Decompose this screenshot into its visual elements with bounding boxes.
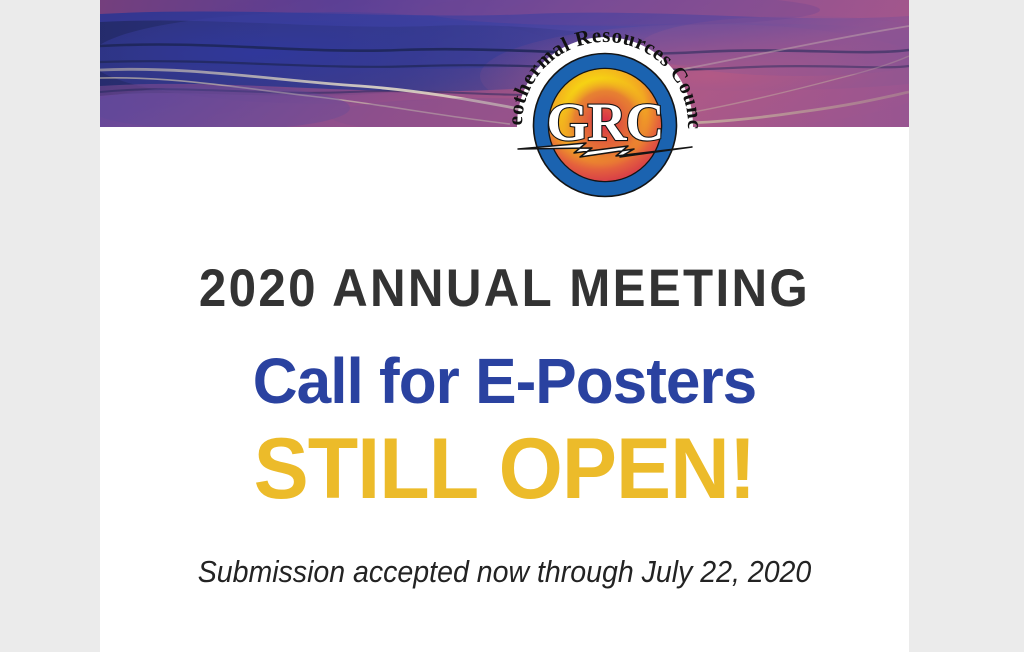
emphasis-heading: STILL OPEN! [116,426,893,512]
grc-logo: Geothermal Resources Council GRC [500,20,710,210]
eyebrow-heading: 2020 ANNUAL MEETING [128,262,880,315]
flyer-root: Geothermal Resources Council GRC 2020 A [0,0,1024,652]
main-title: Call for E-Posters [112,349,897,413]
grc-seal-art: Geothermal Resources Council GRC [500,20,710,210]
logo-monogram: GRC [547,92,664,152]
headline-block: 2020 ANNUAL MEETING Call for E-Posters S… [100,262,909,587]
submission-deadline-text: Submission accepted now through July 22,… [132,556,876,587]
flyer-card: Geothermal Resources Council GRC 2020 A [100,0,909,652]
